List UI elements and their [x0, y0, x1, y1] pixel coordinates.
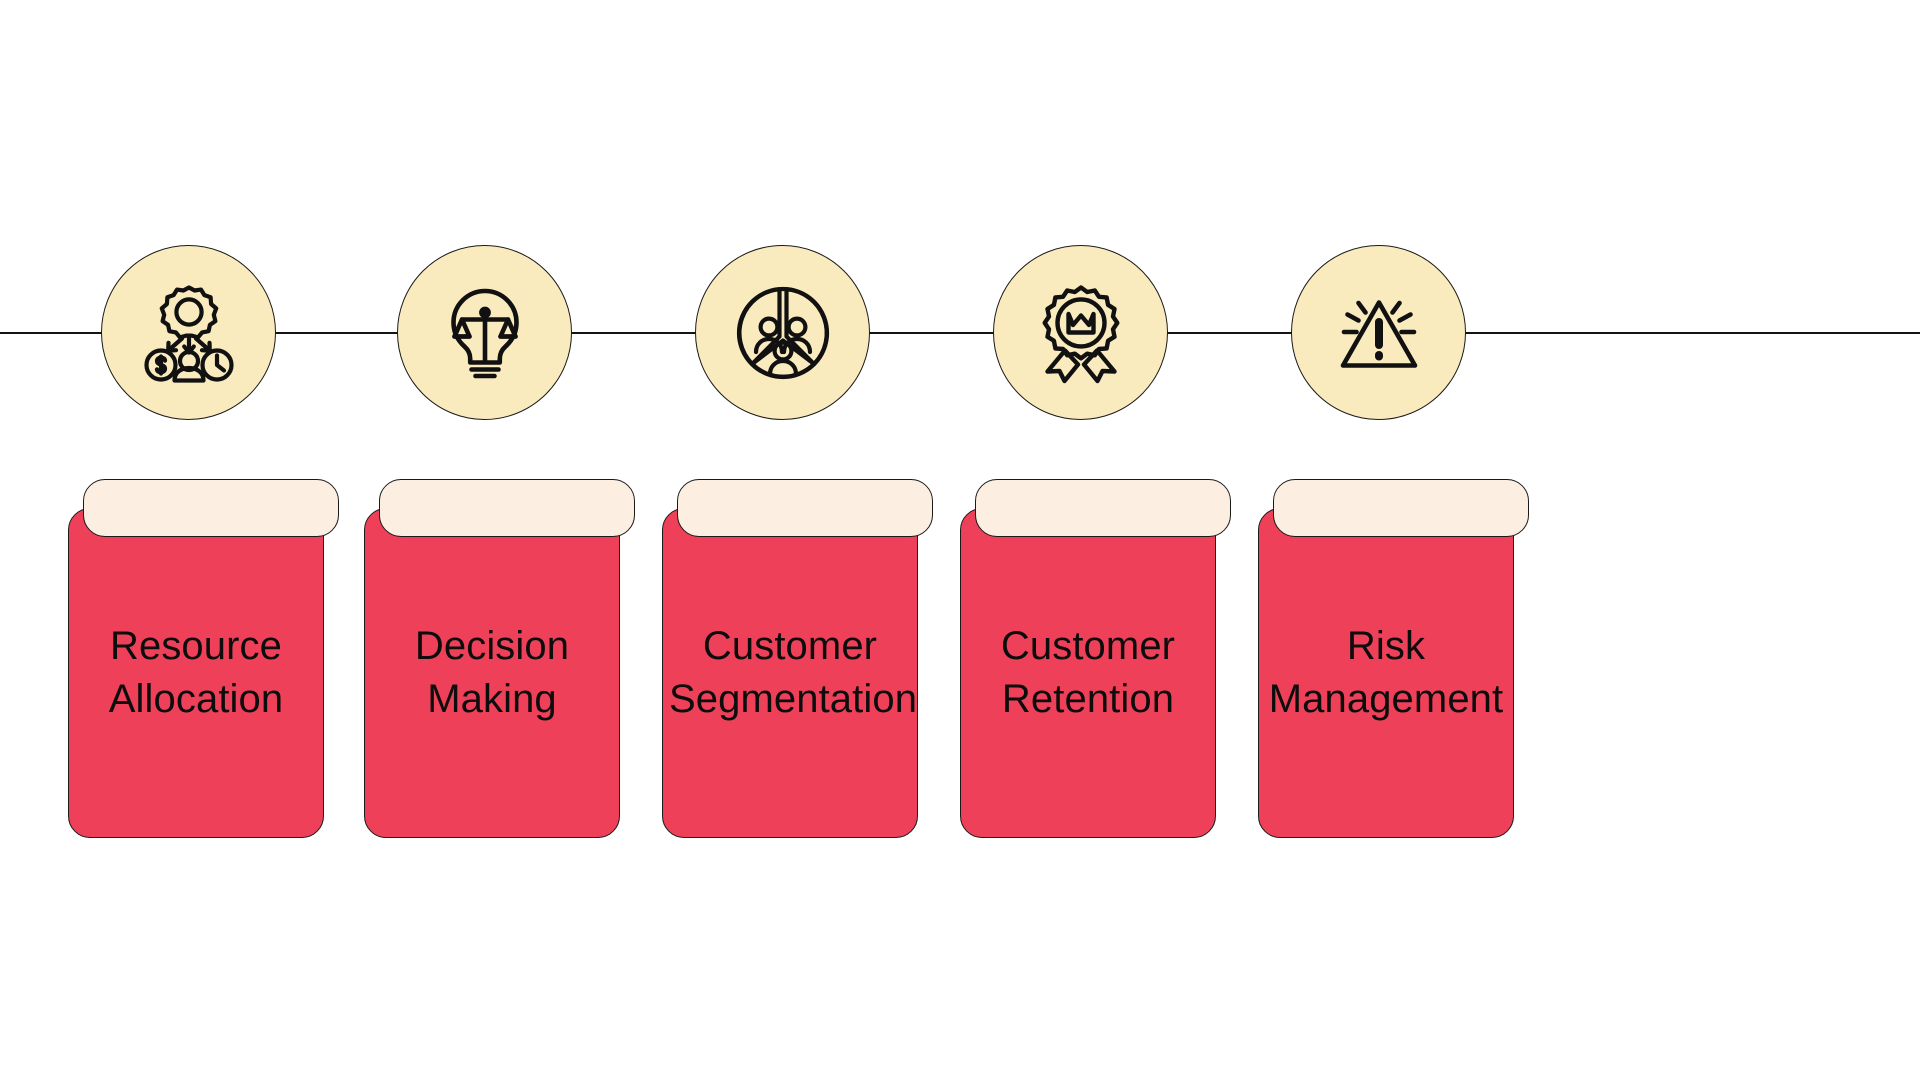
card-body: Customer Segmentation: [662, 508, 918, 838]
card-body: Decision Making: [364, 508, 620, 838]
card-body: Customer Retention: [960, 508, 1216, 838]
timeline-spine: [0, 332, 1920, 334]
pie-chart-people-icon: [731, 281, 835, 385]
card-label: Resource Allocation: [69, 620, 323, 726]
card-label: Risk Management: [1259, 620, 1513, 726]
card-tab: [379, 479, 635, 537]
card-tab: [975, 479, 1231, 537]
card-body: Risk Management: [1258, 508, 1514, 838]
node-circle-resource-allocation[interactable]: [101, 245, 276, 420]
lightbulb-scales-icon: [433, 281, 537, 385]
card-label: Customer Segmentation: [663, 620, 917, 726]
diagram-canvas: Resource Allocation Decision Making Cust…: [0, 0, 1920, 1080]
card-label: Decision Making: [365, 620, 619, 726]
gear-resource-allocation-icon: [137, 281, 241, 385]
card-tab: [677, 479, 933, 537]
node-circle-decision-making[interactable]: [397, 245, 572, 420]
card-label: Customer Retention: [961, 620, 1215, 726]
warning-triangle-icon: [1327, 281, 1431, 385]
node-circle-customer-segmentation[interactable]: [695, 245, 870, 420]
card-tab: [1273, 479, 1529, 537]
node-circle-customer-retention[interactable]: [993, 245, 1168, 420]
card-body: Resource Allocation: [68, 508, 324, 838]
award-rosette-crown-icon: [1029, 281, 1133, 385]
node-circle-risk-management[interactable]: [1291, 245, 1466, 420]
card-tab: [83, 479, 339, 537]
